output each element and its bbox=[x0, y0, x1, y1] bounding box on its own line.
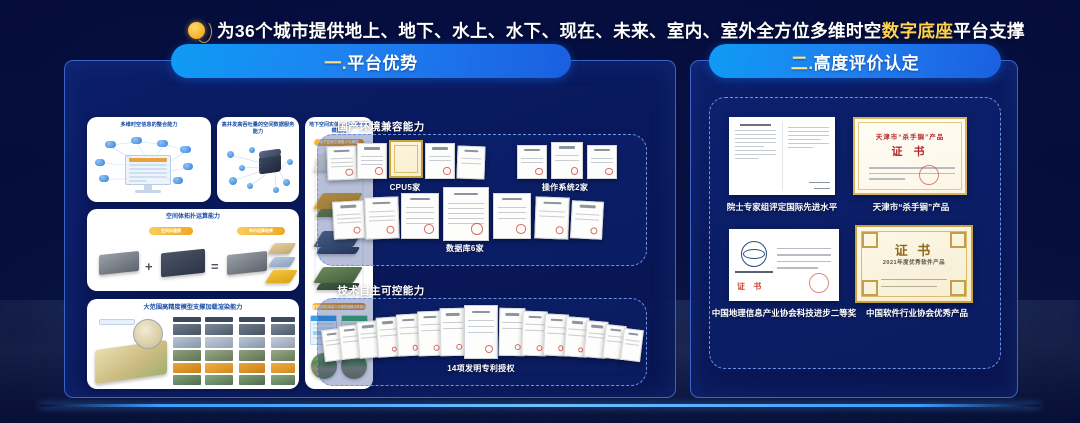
card-topology[interactable]: 空间体拓扑运算能力 空间体建模 布尔运算结果 + = bbox=[87, 209, 299, 291]
headline-prefix: 为36个城市提供地上、地下、水上、水下、现在、未来、室内、室外全方位多维时空 bbox=[217, 21, 882, 41]
label-cpu-count: CPU5家 bbox=[375, 182, 435, 193]
cert-gis-award[interactable]: 证 书 bbox=[729, 229, 839, 301]
section-header-platform-advantage: 一.平台优势 bbox=[171, 44, 571, 78]
card-topology-illustration: + = bbox=[87, 239, 299, 291]
patent-thumb bbox=[620, 328, 644, 362]
cert-thumb-featured bbox=[443, 187, 489, 241]
cert-thumb bbox=[534, 196, 569, 239]
patent-thumb bbox=[440, 308, 467, 356]
cert-tianjin-heading: 天津市“杀手锏”产品 bbox=[855, 131, 965, 141]
cert-thumb bbox=[357, 143, 387, 179]
bottom-divider bbox=[40, 404, 1040, 407]
section-number-right: 二. bbox=[791, 54, 814, 73]
cert-thumb bbox=[332, 200, 366, 240]
cert-thumb bbox=[364, 196, 399, 239]
card-concurrency-title: 高并发高吞吐量的空间数据服务能力 bbox=[217, 117, 299, 137]
cert-tianjin-subheading: 证 书 bbox=[855, 143, 965, 159]
card-concurrency[interactable]: 高并发高吞吐量的空间数据服务能力 bbox=[217, 117, 299, 202]
card-topology-title: 空间体拓扑运算能力 bbox=[87, 209, 299, 224]
card-multi-dim[interactable]: 多维时空信息的整合能力 bbox=[87, 117, 211, 202]
cert-software-award-caption: 中国软件行业协会优秀产品 bbox=[861, 307, 973, 319]
group-domestic-env-title: 国产环境兼容能力 bbox=[321, 119, 441, 134]
cert-tianjin[interactable]: 天津市“杀手锏”产品 证 书 bbox=[853, 117, 967, 195]
section-header-text: 一.平台优势 bbox=[324, 49, 417, 74]
cert-thumb bbox=[456, 146, 485, 180]
section-number: 一. bbox=[324, 54, 347, 73]
cert-software-award-subheading: 2021年度优秀软件产品 bbox=[857, 258, 971, 266]
cert-thumb bbox=[401, 193, 439, 239]
cert-gis-award-subheading: 证 书 bbox=[737, 281, 764, 292]
cert-gis-award-caption: 中国地理信息产业协会科技进步二等奖 bbox=[711, 307, 857, 319]
headline-banner: 为36个城市提供地上、地下、水上、水下、现在、未来、室内、室外全方位多维时空数字… bbox=[188, 18, 1025, 43]
label-os-count: 操作系统2家 bbox=[530, 182, 600, 193]
card-topology-tag-right: 布尔运算结果 bbox=[237, 227, 285, 235]
patent-thumb-featured bbox=[464, 305, 498, 359]
headline-text: 为36个城市提供地上、地下、水上、水下、现在、未来、室内、室外全方位多维时空数字… bbox=[217, 18, 1025, 43]
card-concurrency-illustration bbox=[217, 139, 299, 202]
label-database-count: 数据库6家 bbox=[435, 243, 495, 254]
circle-orbit-icon bbox=[188, 22, 205, 39]
group-autonomous-tech-title: 技术自主可控能力 bbox=[321, 283, 441, 298]
cert-software-award-heading: 证 书 bbox=[857, 240, 971, 259]
cert-thumb bbox=[551, 142, 583, 179]
card-render-title: 大范围高精度模型支撑加载渲染能力 bbox=[87, 299, 299, 314]
cert-thumb bbox=[326, 145, 357, 180]
left-panel-frame: 一.平台优势 多维时空信息的整合能力 bbox=[64, 60, 676, 398]
cert-thumb bbox=[389, 140, 423, 178]
slide-canvas: 为36个城市提供地上、地下、水上、水下、现在、未来、室内、室外全方位多维时空数字… bbox=[0, 0, 1080, 423]
cert-academician[interactable] bbox=[729, 117, 835, 195]
cert-thumb bbox=[493, 193, 531, 239]
cert-thumb bbox=[570, 200, 604, 240]
section-title-right: 高度评价认定 bbox=[814, 54, 920, 73]
cert-software-award[interactable]: 证 书 2021年度优秀软件产品 bbox=[855, 225, 973, 303]
cert-academician-caption: 院士专家组评定国际先进水平 bbox=[719, 201, 845, 213]
card-topology-tag-left: 空间体建模 bbox=[149, 227, 193, 235]
card-render-illustration bbox=[87, 315, 299, 389]
cert-thumb bbox=[517, 145, 547, 179]
network-links-icon bbox=[87, 133, 211, 202]
section-header-recognition: 二.高度评价认定 bbox=[709, 44, 1001, 78]
section-header-text-right: 二.高度评价认定 bbox=[791, 49, 920, 74]
card-multi-dim-title: 多维时空信息的整合能力 bbox=[87, 117, 211, 131]
right-panel-frame: 二.高度评价认定 bbox=[690, 60, 1018, 398]
label-patent-count: 14项发明专利授权 bbox=[440, 363, 522, 374]
card-multi-dim-illustration bbox=[87, 133, 211, 202]
section-title: 平台优势 bbox=[347, 54, 417, 73]
cert-thumb bbox=[587, 145, 617, 179]
cert-thumb bbox=[425, 143, 455, 179]
headline-highlight: 数字底座 bbox=[882, 21, 954, 41]
headline-suffix: 平台支撑 bbox=[953, 21, 1025, 41]
cert-tianjin-caption: 天津市“杀手锏”产品 bbox=[851, 201, 971, 213]
card-render[interactable]: 大范围高精度模型支撑加载渲染能力 bbox=[87, 299, 299, 389]
